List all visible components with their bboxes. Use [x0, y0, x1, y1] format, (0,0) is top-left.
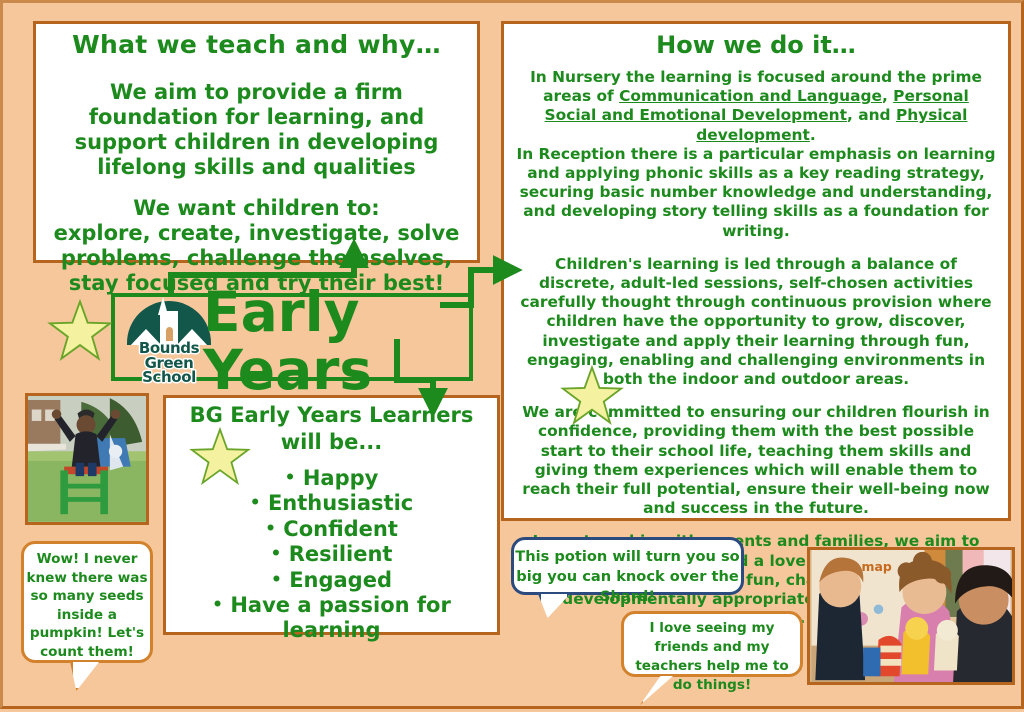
list-item-label: Happy — [303, 466, 379, 490]
panel-what-we-teach-heading: What we teach and why… — [46, 30, 467, 60]
photo-classroom-image: ld map — [810, 550, 1012, 682]
list-item-label: Have a passion for learning — [230, 593, 450, 642]
bullet-icon: • — [250, 493, 261, 513]
star-decoration-list — [189, 427, 251, 487]
link-communication-and-language[interactable]: Communication and Language — [619, 87, 882, 105]
panel-how-we-do-it-para1: In Nursery the learning is focused aroun… — [516, 68, 996, 145]
list-item: • Enthusiastic — [176, 491, 487, 516]
learners-list: • Happy • Enthusiastic • Confident • Res… — [176, 466, 487, 644]
bullet-icon: • — [212, 595, 223, 615]
list-item-label: Confident — [283, 517, 398, 541]
bullet-icon: • — [265, 519, 276, 539]
speech-bubble-potion: This potion will turn you so big you can… — [511, 537, 744, 595]
list-item: • Resilient — [176, 542, 487, 567]
para1-text-d: . — [810, 126, 816, 144]
speech-bubble-tail — [70, 662, 99, 691]
speech-bubble-friends-text: I love seeing my friends and my teachers… — [624, 619, 800, 695]
spacer — [46, 64, 467, 80]
early-years-title-box: Bounds Green School Early Years — [111, 293, 473, 381]
panel-what-we-teach: What we teach and why… We aim to provide… — [33, 21, 480, 263]
panel-how-we-do-it-heading: How we do it… — [516, 28, 996, 62]
speech-bubble-friends: I love seeing my friends and my teachers… — [621, 611, 803, 677]
spacer — [516, 518, 996, 532]
list-item: • Have a passion for learning — [176, 593, 487, 644]
list-item: • Engaged — [176, 568, 487, 593]
para1-text-b: , — [882, 87, 893, 105]
bullet-icon: • — [285, 468, 296, 488]
list-item: • Confident — [176, 517, 487, 542]
bullet-icon: • — [271, 570, 282, 590]
page-title: Early Years — [203, 283, 477, 399]
list-item-label: Resilient — [289, 542, 393, 566]
panel-what-we-teach-para2-lead: We want children to: — [46, 196, 467, 221]
para1-text-c: , and — [847, 106, 896, 124]
star-decoration-left — [47, 299, 113, 363]
spacer — [516, 241, 996, 255]
poster-root: What we teach and why… We aim to provide… — [0, 0, 1024, 709]
panel-how-we-do-it: How we do it… In Nursery the learning is… — [501, 21, 1011, 521]
spacer — [46, 180, 467, 196]
list-item-label: Enthusiastic — [268, 491, 413, 515]
bullet-icon: • — [271, 544, 282, 564]
speech-bubble-pumpkin: Wow! I never knew there was so many seed… — [21, 541, 153, 663]
star-decoration-right — [559, 365, 625, 427]
panel-what-we-teach-para1: We aim to provide a firm foundation for … — [46, 80, 467, 180]
page-title-wrap: Early Years — [115, 291, 477, 391]
list-item-label: Engaged — [289, 568, 392, 592]
speech-bubble-pumpkin-text: Wow! I never knew there was so many seed… — [24, 550, 150, 662]
photo-playground-image — [28, 396, 146, 522]
photo-playground — [25, 393, 149, 525]
photo-classroom: ld map — [807, 547, 1015, 685]
panel-how-we-do-it-para2: In Reception there is a particular empha… — [516, 145, 996, 241]
